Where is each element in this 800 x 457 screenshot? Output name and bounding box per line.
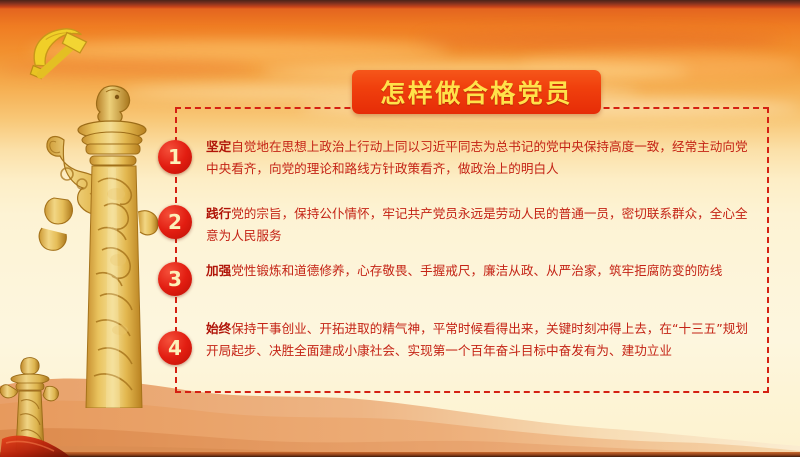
item-number-badge: 4 <box>158 331 192 365</box>
item-text: 坚定自觉地在思想上政治上行动上同以习近平同志为总书记的党中央保持高度一致，经常主… <box>206 136 752 180</box>
item-number-badge: 1 <box>158 140 192 174</box>
item-number-badge: 2 <box>158 205 192 239</box>
item-text: 加强党性锻炼和道德修养，心存敬畏、手握戒尺，廉洁从政、从严治家，筑牢拒腐防变的防… <box>206 260 752 282</box>
poster-canvas: 怎样做合格党员 1 坚定自觉地在思想上政治上行动上同以习近平同志为总书记的党中央… <box>0 0 800 457</box>
item-number: 1 <box>168 147 182 168</box>
item-body: 自觉地在思想上政治上行动上同以习近平同志为总书记的党中央保持高度一致，经常主动向… <box>206 139 748 176</box>
item-lead: 践行 <box>206 206 231 221</box>
item-text: 践行党的宗旨，保持公仆情怀，牢记共产党员永远是劳动人民的普通一员，密切联系群众，… <box>206 203 752 247</box>
item-number: 3 <box>168 269 182 290</box>
item-lead: 坚定 <box>206 139 231 154</box>
item-text: 始终保持干事创业、开拓进取的精气神，平常时候看得出来，关键时刻冲得上去，在“十三… <box>206 318 752 362</box>
item-body: 保持干事创业、开拓进取的精气神，平常时候看得出来，关键时刻冲得上去，在“十三五”… <box>206 321 748 358</box>
requirements-list: 1 坚定自觉地在思想上政治上行动上同以习近平同志为总书记的党中央保持高度一致，经… <box>0 0 800 457</box>
item-body: 党性锻炼和道德修养，心存敬畏、手握戒尺，廉洁从政、从严治家，筑牢拒腐防变的防线 <box>231 263 722 278</box>
item-number: 4 <box>168 338 182 359</box>
item-lead: 始终 <box>206 321 231 336</box>
item-number-badge: 3 <box>158 262 192 296</box>
item-body: 党的宗旨，保持公仆情怀，牢记共产党员永远是劳动人民的普通一员，密切联系群众，全心… <box>206 206 748 243</box>
item-number: 2 <box>168 212 182 233</box>
item-lead: 加强 <box>206 263 231 278</box>
